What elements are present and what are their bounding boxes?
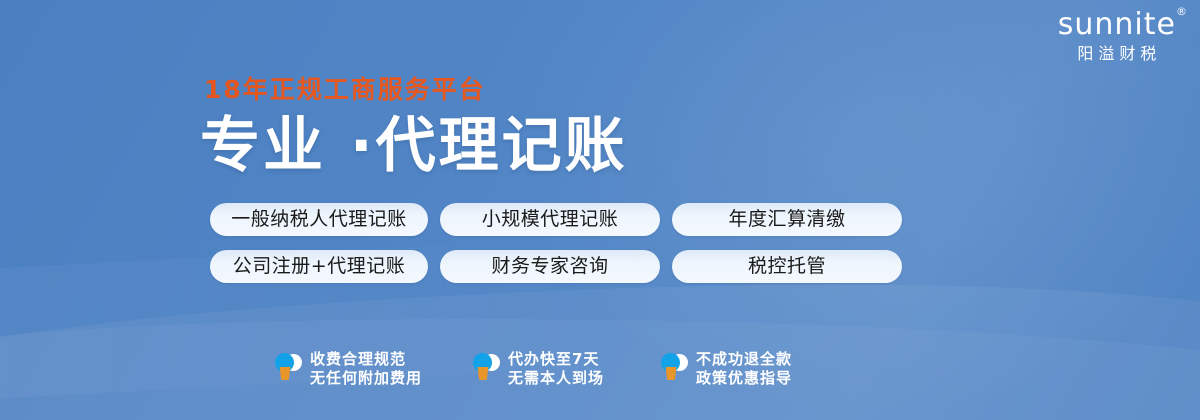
promo-banner: sunnite ® 阳溢财税 18年正规工商服务平台 专业 ·代理记账 一般纳税… bbox=[0, 0, 1200, 420]
badge-check-icon bbox=[660, 352, 688, 386]
service-pill-annual-settlement[interactable]: 年度汇算清缴 bbox=[672, 203, 902, 236]
service-pill-row-2: 公司注册+代理记账 财务专家咨询 税控托管 bbox=[210, 250, 902, 283]
feature-line-2: 无任何附加费用 bbox=[310, 369, 448, 388]
feature-line-2: 无需本人到场 bbox=[508, 369, 636, 388]
feature-line-1: 代办快至7天 bbox=[508, 350, 636, 369]
hero-headline: 专业 ·代理记账 bbox=[200, 112, 628, 180]
hero-kicker: 18年正规工商服务平台 bbox=[204, 76, 486, 104]
badge-check-icon bbox=[274, 352, 302, 386]
feature-item-guarantee: 不成功退全款 政策优惠指导 bbox=[660, 350, 824, 388]
feature-strip: 收费合理规范 无任何附加费用 代办快至7天 无需本人到场 不成功退全款 bbox=[274, 350, 824, 388]
logo-wordmark-text: sunnite bbox=[1058, 7, 1176, 42]
service-pill-grid: 一般纳税人代理记账 小规模代理记账 年度汇算清缴 公司注册+代理记账 财务专家咨… bbox=[210, 203, 902, 297]
feature-item-speed: 代办快至7天 无需本人到场 bbox=[472, 350, 636, 388]
registered-trademark-icon: ® bbox=[1176, 6, 1188, 17]
brand-logo[interactable]: sunnite ® 阳溢财税 bbox=[1058, 8, 1176, 64]
service-pill-general-taxpayer[interactable]: 一般纳税人代理记账 bbox=[210, 203, 428, 236]
badge-check-icon bbox=[472, 352, 500, 386]
feature-line-1: 不成功退全款 bbox=[696, 350, 824, 369]
feature-line-1: 收费合理规范 bbox=[310, 350, 448, 369]
feature-text-pricing: 收费合理规范 无任何附加费用 bbox=[310, 350, 448, 388]
service-pill-finance-consulting[interactable]: 财务专家咨询 bbox=[440, 250, 660, 283]
service-pill-small-scale[interactable]: 小规模代理记账 bbox=[440, 203, 660, 236]
feature-text-guarantee: 不成功退全款 政策优惠指导 bbox=[696, 350, 824, 388]
feature-item-pricing: 收费合理规范 无任何附加费用 bbox=[274, 350, 448, 388]
feature-text-speed: 代办快至7天 无需本人到场 bbox=[508, 350, 636, 388]
service-pill-tax-control-hosting[interactable]: 税控托管 bbox=[672, 250, 902, 283]
logo-wordmark: sunnite ® bbox=[1058, 8, 1176, 42]
logo-chinese-name: 阳溢财税 bbox=[1058, 44, 1176, 64]
service-pill-row-1: 一般纳税人代理记账 小规模代理记账 年度汇算清缴 bbox=[210, 203, 902, 236]
feature-line-2: 政策优惠指导 bbox=[696, 369, 824, 388]
service-pill-company-registration[interactable]: 公司注册+代理记账 bbox=[210, 250, 428, 283]
